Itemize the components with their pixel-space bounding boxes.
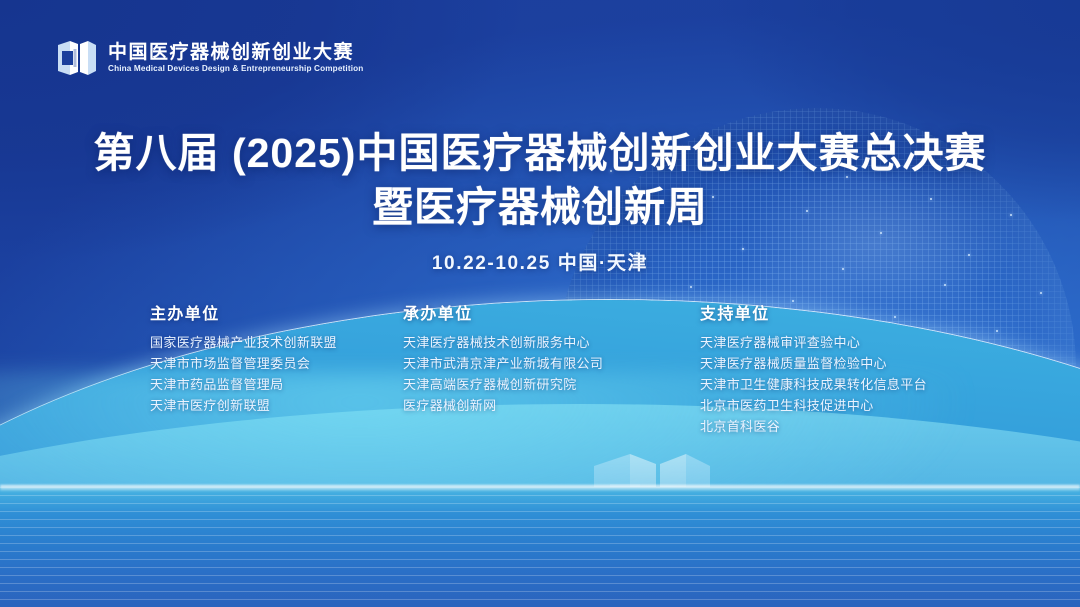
org-item: 天津医疗器械审评查验中心 — [700, 332, 927, 353]
org-item: 天津医疗器械质量监督检验中心 — [700, 353, 927, 374]
org-item: 天津市市场监督管理委员会 — [150, 353, 337, 374]
event-date-location: 10.22-10.25 中国·天津 — [0, 248, 1080, 275]
title-line-1: 第八届 (2025)中国医疗器械创新创业大赛总决赛 — [0, 126, 1080, 180]
org-item: 天津市医疗创新联盟 — [150, 395, 337, 416]
org-item: 天津市卫生健康科技成果转化信息平台 — [700, 374, 927, 395]
org-item: 国家医疗器械产业技术创新联盟 — [150, 332, 337, 353]
org-item: 天津市武清京津产业新城有限公司 — [403, 353, 603, 374]
water-streak-lines — [0, 487, 1080, 607]
org-heading: 承办单位 — [403, 300, 603, 324]
org-item: 北京首科医谷 — [700, 416, 927, 437]
org-item: 天津市药品监督管理局 — [150, 374, 337, 395]
org-item: 北京市医药卫生科技促进中心 — [700, 395, 927, 416]
page-title: 第八届 (2025)中国医疗器械创新创业大赛总决赛 暨医疗器械创新周 — [0, 126, 1080, 234]
water-reflection-band — [0, 487, 1080, 607]
org-column-supporters: 支持单位 天津医疗器械审评查验中心 天津医疗器械质量监督检验中心 天津市卫生健康… — [700, 300, 927, 437]
organizations-section: 主办单位 国家医疗器械产业技术创新联盟 天津市市场监督管理委员会 天津市药品监督… — [0, 300, 1080, 450]
poster-canvas: 中国医疗器械创新创业大赛 China Medical Devices Desig… — [0, 0, 1080, 607]
title-line-2: 暨医疗器械创新周 — [0, 180, 1080, 234]
brand-name-en: China Medical Devices Design & Entrepren… — [108, 64, 363, 73]
brand-logo-text: 中国医疗器械创新创业大赛 China Medical Devices Desig… — [108, 43, 363, 74]
org-item: 天津医疗器械技术创新服务中心 — [403, 332, 603, 353]
brand-name-cn: 中国医疗器械创新创业大赛 — [108, 43, 363, 63]
org-item: 天津高端医疗器械创新研究院 — [403, 374, 603, 395]
org-column-undertakers: 承办单位 天津医疗器械技术创新服务中心 天津市武清京津产业新城有限公司 天津高端… — [403, 300, 603, 416]
org-heading: 主办单位 — [150, 300, 337, 324]
org-column-organizers: 主办单位 国家医疗器械产业技术创新联盟 天津市市场监督管理委员会 天津市药品监督… — [150, 300, 337, 416]
brand-logo: 中国医疗器械创新创业大赛 China Medical Devices Desig… — [56, 38, 363, 78]
gate-door-logo-icon — [56, 38, 98, 78]
org-item: 医疗器械创新网 — [403, 395, 603, 416]
org-heading: 支持单位 — [700, 300, 927, 324]
